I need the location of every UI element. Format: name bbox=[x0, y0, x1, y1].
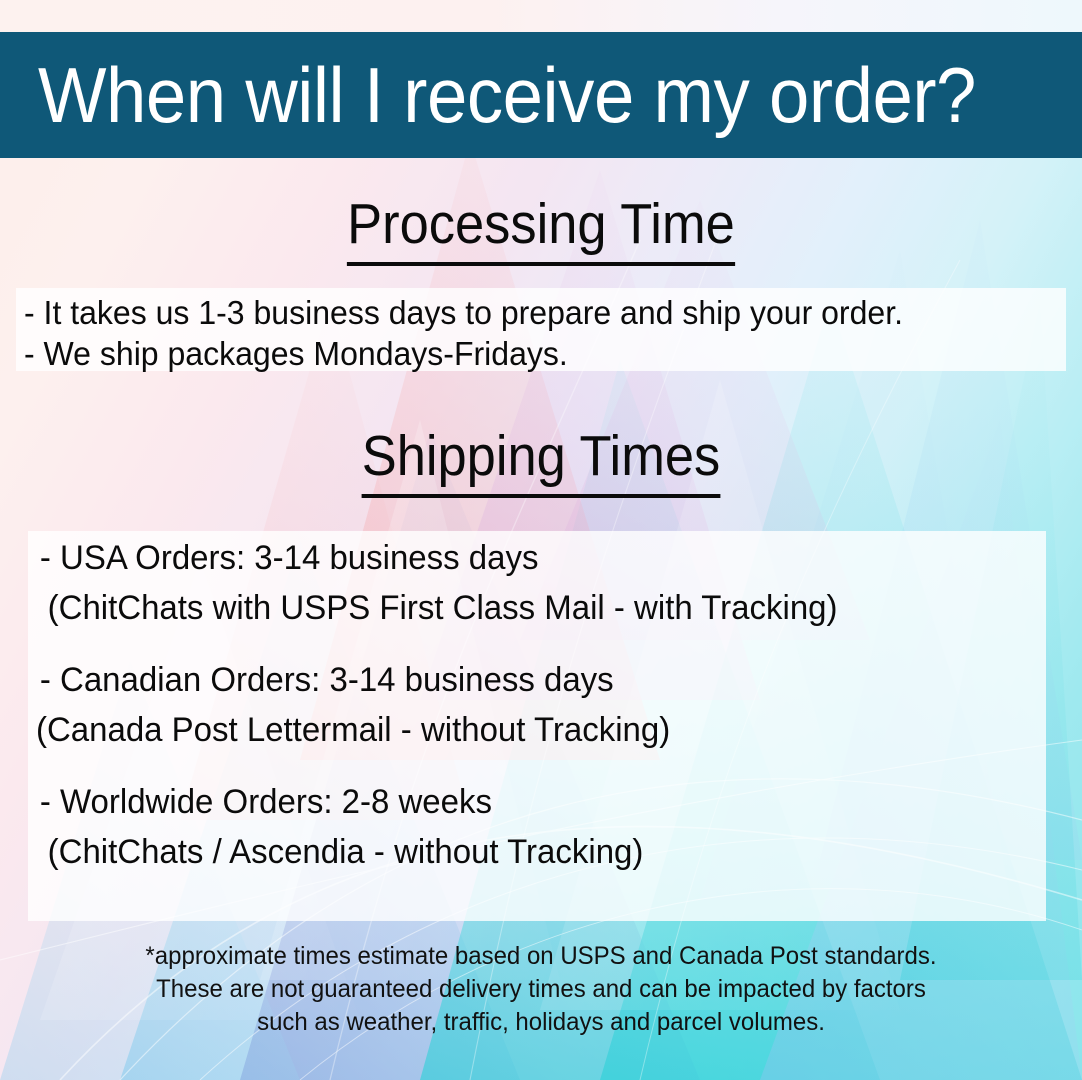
shipping-group-usa: - USA Orders: 3-14 business days (ChitCh… bbox=[36, 533, 837, 633]
processing-line-1: - It takes us 1-3 business days to prepa… bbox=[24, 292, 903, 333]
shipping-info-poster: When will I receive my order? Processing… bbox=[0, 0, 1082, 1080]
footnote-disclaimer: *approximate times estimate based on USP… bbox=[22, 940, 1061, 1039]
shipping-times-text-block: - USA Orders: 3-14 business days (ChitCh… bbox=[36, 533, 837, 877]
shipping-canada-sub: (Canada Post Lettermail - without Tracki… bbox=[36, 705, 837, 755]
shipping-group-canada: - Canadian Orders: 3-14 business days (C… bbox=[36, 655, 837, 755]
processing-time-text-block: - It takes us 1-3 business days to prepa… bbox=[24, 292, 903, 374]
shipping-worldwide-sub: (ChitChats / Ascendia - without Tracking… bbox=[36, 827, 837, 877]
header-banner: When will I receive my order? bbox=[0, 32, 1082, 158]
shipping-usa-main: - USA Orders: 3-14 business days bbox=[36, 533, 837, 583]
section-heading-processing-time: Processing Time bbox=[43, 196, 1038, 253]
footnote-line-2: These are not guaranteed delivery times … bbox=[22, 973, 1061, 1006]
page-title: When will I receive my order? bbox=[38, 56, 976, 134]
section-heading-shipping-times-label: Shipping Times bbox=[362, 424, 721, 498]
footnote-line-1: *approximate times estimate based on USP… bbox=[22, 940, 1061, 973]
section-heading-processing-time-label: Processing Time bbox=[347, 192, 735, 266]
section-heading-shipping-times: Shipping Times bbox=[43, 428, 1038, 485]
processing-line-2: - We ship packages Mondays-Fridays. bbox=[24, 333, 903, 374]
shipping-worldwide-main: - Worldwide Orders: 2-8 weeks bbox=[36, 777, 837, 827]
shipping-canada-main: - Canadian Orders: 3-14 business days bbox=[36, 655, 837, 705]
shipping-usa-sub: (ChitChats with USPS First Class Mail - … bbox=[36, 583, 837, 633]
shipping-group-worldwide: - Worldwide Orders: 2-8 weeks (ChitChats… bbox=[36, 777, 837, 877]
top-strip bbox=[0, 0, 1082, 32]
footnote-line-3: such as weather, traffic, holidays and p… bbox=[22, 1006, 1061, 1039]
